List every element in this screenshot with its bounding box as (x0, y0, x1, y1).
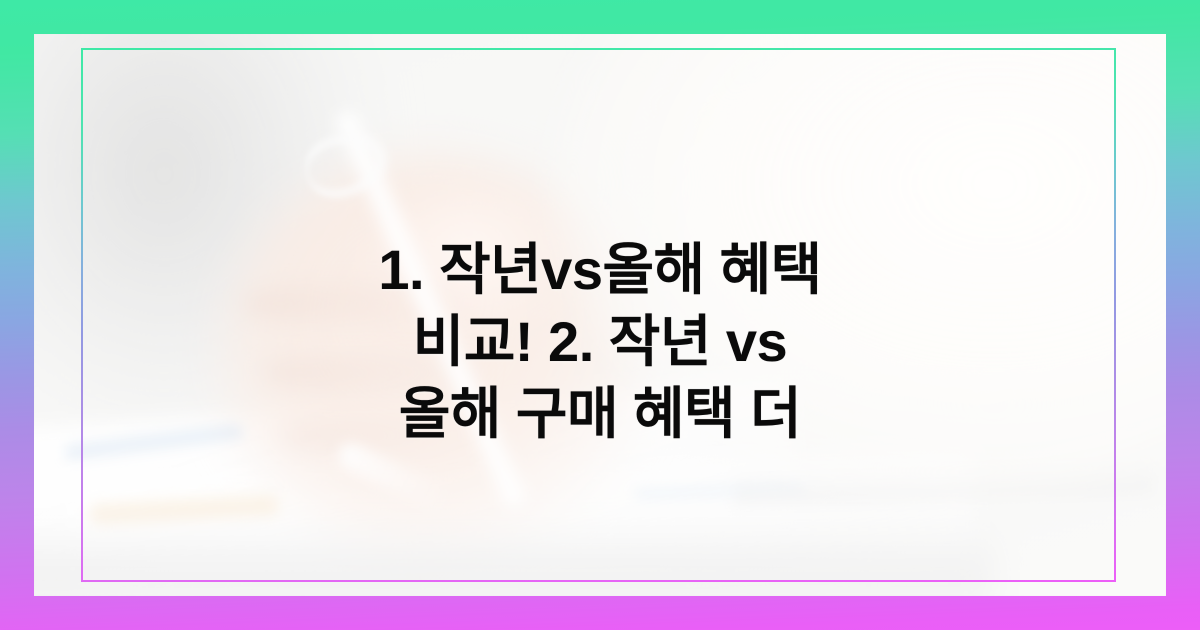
photo-blown-highlight (554, 34, 1166, 494)
photo-desk-shadow (34, 522, 994, 596)
photo-blue-accent-1 (64, 423, 245, 461)
photo-finger-ridge-2 (264, 354, 554, 392)
photo-hand-knuckle (364, 184, 574, 334)
photo-paper-sheet-2 (72, 448, 976, 596)
poster-inner-matte: 1. 작년vs올해 혜택 비교! 2. 작년 vs 올해 구매 혜택 더 (34, 34, 1166, 596)
photo-wall-shadow (34, 34, 374, 434)
photo-white-wash (34, 34, 1166, 596)
photo-desk-edge (734, 459, 1155, 506)
photo-finger-ridge-3 (284, 419, 534, 453)
photo-pen-barrel (328, 106, 534, 513)
photo-pen-tip (334, 439, 453, 515)
poster-card: 1. 작년vs올해 혜택 비교! 2. 작년 vs 올해 구매 혜택 더 (0, 0, 1200, 630)
photo-warm-highlight (654, 74, 1166, 404)
photo-finger-ridge-1 (244, 284, 544, 324)
photo-pen-clip (296, 119, 401, 210)
background-photo (34, 34, 1166, 596)
photo-paper-sheet-1 (34, 376, 799, 593)
photo-hand (219, 154, 649, 554)
photo-tan-accent (89, 494, 280, 526)
photo-blue-accent-2 (634, 483, 804, 499)
